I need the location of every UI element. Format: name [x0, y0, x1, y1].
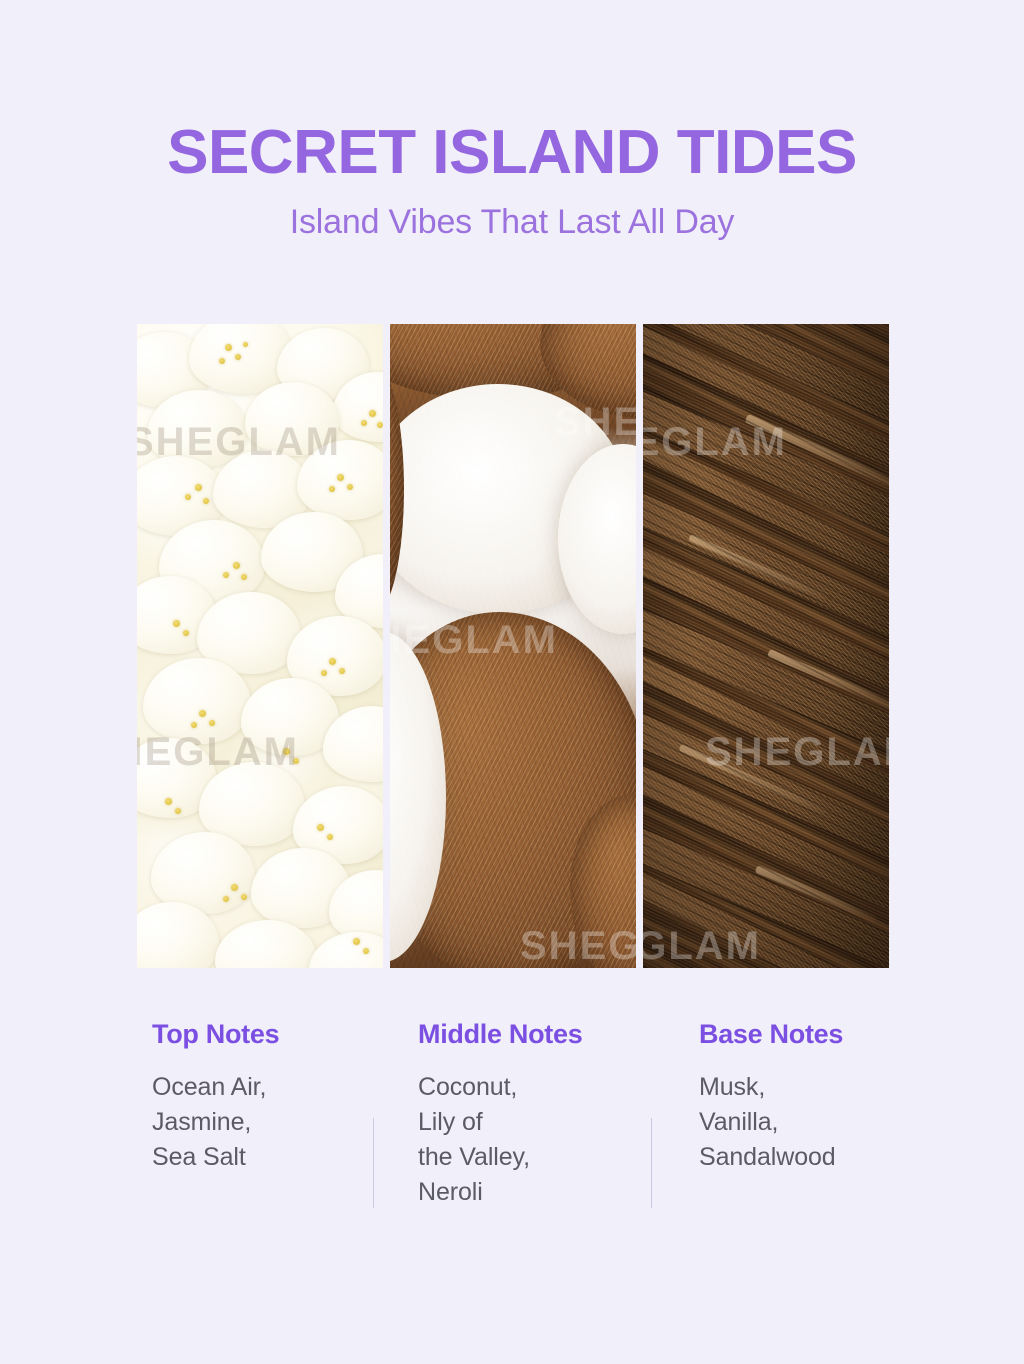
- page-title: SECRET ISLAND TIDES: [0, 0, 1024, 188]
- notes-heading-base: Base Notes: [699, 1018, 914, 1050]
- note-item: Sandalwood: [699, 1140, 914, 1175]
- page-subtitle: Island Vibes That Last All Day: [0, 188, 1024, 242]
- note-item: the Valley,: [418, 1140, 648, 1175]
- note-item: Lily of: [418, 1105, 648, 1140]
- header: SECRET ISLAND TIDES Island Vibes That La…: [0, 0, 1024, 242]
- ingredient-image-sandalwood: SHEGLAM SHEGLAM SHEGLAM: [643, 324, 889, 968]
- notes-column-base: Base Notes Musk, Vanilla, Sandalwood: [699, 1018, 914, 1175]
- notes-column-top: Top Notes Ocean Air, Jasmine, Sea Salt: [152, 1018, 367, 1175]
- note-item: Sea Salt: [152, 1140, 367, 1175]
- notes-list-middle: Coconut, Lily of the Valley, Neroli: [418, 1050, 648, 1210]
- note-item: Jasmine,: [152, 1105, 367, 1140]
- ingredient-image-coconut: SHEGLAM SHEGLAM SHEGLAM: [390, 324, 636, 968]
- note-item: Ocean Air,: [152, 1070, 367, 1105]
- fragrance-notes-section: Top Notes Ocean Air, Jasmine, Sea Salt M…: [137, 1018, 907, 1248]
- notes-heading-middle: Middle Notes: [418, 1018, 648, 1050]
- note-item: Coconut,: [418, 1070, 648, 1105]
- note-item: Neroli: [418, 1175, 648, 1210]
- jasmine-photo-art: [137, 324, 383, 968]
- sandalwood-photo-art: [643, 324, 889, 968]
- notes-divider: [373, 1118, 374, 1208]
- ingredient-image-strip: SHEGLAM SHEGLAM SHEGLAM SHEGLAM SHEGLAM: [137, 324, 897, 968]
- notes-column-middle: Middle Notes Coconut, Lily of the Valley…: [418, 1018, 648, 1210]
- notes-list-base: Musk, Vanilla, Sandalwood: [699, 1050, 914, 1175]
- note-item: Musk,: [699, 1070, 914, 1105]
- notes-heading-top: Top Notes: [152, 1018, 367, 1050]
- ingredient-image-jasmine: SHEGLAM SHEGLAM: [137, 324, 383, 968]
- coconut-photo-art: [390, 324, 636, 968]
- note-item: Vanilla,: [699, 1105, 914, 1140]
- product-fragrance-infographic: SECRET ISLAND TIDES Island Vibes That La…: [0, 0, 1024, 1364]
- notes-list-top: Ocean Air, Jasmine, Sea Salt: [152, 1050, 367, 1175]
- notes-divider: [651, 1118, 652, 1208]
